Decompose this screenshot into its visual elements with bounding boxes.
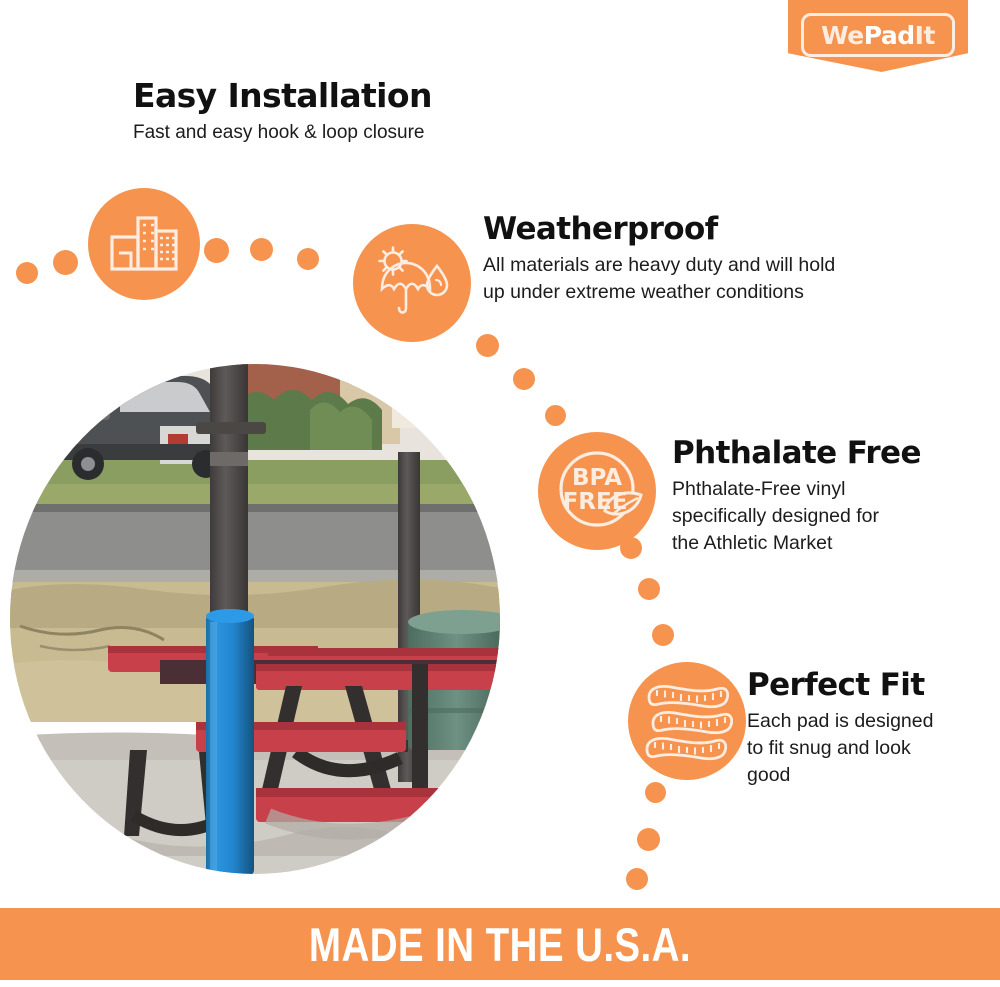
feature-body-line-1: All materials are heavy duty and will ho… (483, 254, 835, 276)
building-icon (88, 188, 200, 300)
sun-umbrella-raindrop-icon (353, 224, 471, 342)
path-dot (16, 262, 38, 284)
path-dot (620, 537, 642, 559)
feature-weatherproof: Weatherproof All materials are heavy dut… (483, 212, 903, 306)
logo-text-it: It (915, 21, 935, 50)
feature-body-line-1: Each pad is designed (747, 710, 933, 732)
feature-body-line-2: specifically designed for (672, 505, 879, 527)
path-dot (250, 238, 273, 261)
logo-outline-box: WePadIt (801, 13, 955, 57)
path-dot (645, 782, 666, 803)
logo-text-we: We (821, 21, 864, 50)
path-dot (476, 334, 499, 357)
measuring-tape-icon (628, 662, 746, 780)
brand-logo[interactable]: WePadIt (788, 0, 968, 72)
feature-phthalate-free: Phthalate Free Phthalate-Free vinyl spec… (672, 436, 972, 557)
made-in-usa-text: MADE IN THE U.S.A. (309, 917, 691, 972)
feature-title: Weatherproof (483, 212, 903, 246)
bpa-icon-text-line-2: FREE (563, 489, 628, 515)
path-dot (53, 250, 78, 275)
path-dot (545, 405, 566, 426)
feature-title: Phthalate Free (672, 436, 972, 470)
feature-body-line-2: up under extreme weather conditions (483, 281, 804, 303)
made-in-usa-banner: MADE IN THE U.S.A. (0, 908, 1000, 980)
feature-body-line-2: to fit snug and look (747, 737, 911, 759)
path-dot (204, 238, 229, 263)
path-dot (638, 578, 660, 600)
path-dot (297, 248, 319, 270)
product-photo (10, 364, 500, 874)
feature-body-line-1: Phthalate-Free vinyl (672, 478, 845, 500)
feature-title: Easy Installation (133, 78, 432, 114)
feature-body-line-3: good (747, 764, 790, 786)
bpa-free-leaf-icon: BPA FREE (538, 432, 656, 550)
feature-body-line-3: the Athletic Market (672, 532, 832, 554)
feature-body: Each pad is designed to fit snug and loo… (747, 708, 979, 789)
feature-body: All materials are heavy duty and will ho… (483, 252, 903, 306)
feature-body: Phthalate-Free vinyl specifically design… (672, 476, 972, 557)
feature-title: Perfect Fit (747, 668, 979, 702)
logo-text: WePadIt (821, 23, 935, 48)
infographic-canvas: WePadIt Easy Installation Fast and easy … (0, 0, 1000, 987)
feature-easy-installation: Easy Installation Fast and easy hook & l… (133, 78, 432, 147)
path-dot (637, 828, 660, 851)
path-dot (626, 868, 648, 890)
path-dot (652, 624, 674, 646)
path-dot (513, 368, 535, 390)
logo-text-pad: Pad (864, 21, 915, 50)
bpa-icon-text-line-1: BPA (572, 465, 622, 491)
feature-body: Fast and easy hook & loop closure (133, 120, 432, 146)
feature-perfect-fit: Perfect Fit Each pad is designed to fit … (747, 668, 979, 789)
